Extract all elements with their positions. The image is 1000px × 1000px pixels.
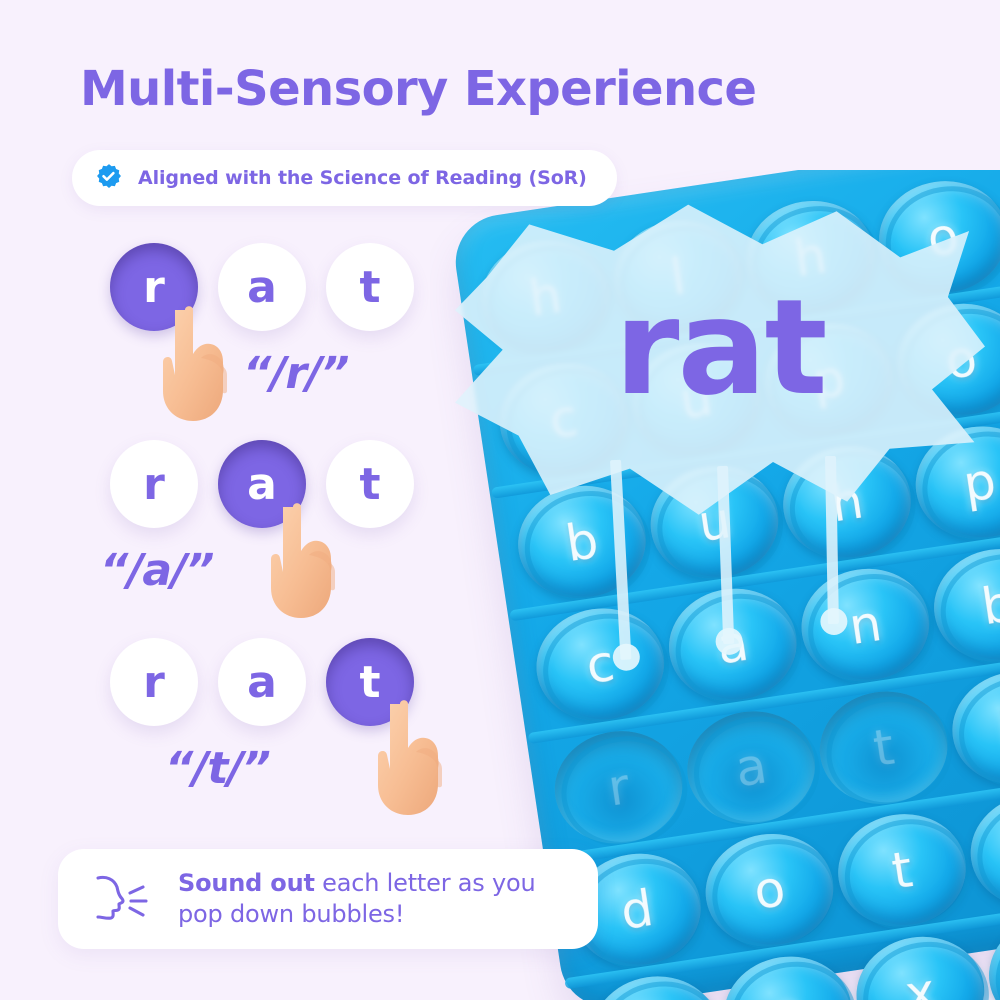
page-title: Multi-Sensory Experience xyxy=(80,62,756,117)
board-bubble-h[interactable]: h xyxy=(739,192,882,322)
board-bubble-letter: c xyxy=(582,634,618,695)
board-row: canb xyxy=(528,524,1000,735)
board-bubble-t[interactable]: t xyxy=(830,806,973,936)
letter-circle-a[interactable]: a xyxy=(218,638,306,726)
board-bubble-letter: h xyxy=(790,226,830,288)
board-bubble-o[interactable]: o xyxy=(716,948,859,1000)
board-bubble-letter: x xyxy=(901,962,939,1000)
board-bubble-letter: d xyxy=(617,879,657,941)
letter-circle-r-active[interactable]: r xyxy=(110,243,198,331)
callout-stem-1 xyxy=(610,460,631,660)
board-bubble-a-pressed[interactable]: a xyxy=(680,703,823,833)
board-bubble-b[interactable]: b xyxy=(584,968,727,1000)
board-bubble-letter: b xyxy=(996,697,1000,759)
board-bubble-l[interactable]: l xyxy=(606,212,749,342)
board-row: cupo xyxy=(491,279,1000,490)
letter-circle-t[interactable]: t xyxy=(326,440,414,528)
phoneme-label-3: “/t/” xyxy=(165,743,270,794)
board-bubble-letter: p xyxy=(960,452,1000,514)
phoneme-row-2[interactable]: rat xyxy=(110,440,414,528)
phoneme-label-1: “/r/” xyxy=(243,348,349,399)
callout-burst-shape xyxy=(455,198,985,528)
sound-out-caption-card: Sound out each letter as you pop down bu… xyxy=(58,849,598,949)
letter-circle-a-active[interactable]: a xyxy=(218,440,306,528)
board-bubble-letter: h xyxy=(827,471,867,533)
board-bubble-letter: l xyxy=(667,247,689,306)
board-row: boxl xyxy=(583,892,1000,1000)
board-bubble-o[interactable]: o xyxy=(890,295,1000,425)
board-bubble-u[interactable]: u xyxy=(625,335,768,465)
board-bubble-b[interactable]: b xyxy=(945,663,1000,793)
board-bubble-o[interactable]: o xyxy=(871,173,1000,303)
board-bubble-letter: u xyxy=(676,369,716,431)
board-bubble-letter: b xyxy=(978,574,1000,636)
board-bubble-letter: a xyxy=(732,737,771,799)
board-bubble-letter: a xyxy=(713,614,752,676)
board-bubble-h[interactable]: h xyxy=(775,438,918,568)
letter-circle-r[interactable]: r xyxy=(110,638,198,726)
board-bubble-b[interactable]: b xyxy=(926,540,1000,670)
board-bubble-h[interactable]: h xyxy=(474,232,617,362)
board-bubble-letter: h xyxy=(525,266,565,328)
sound-out-caption-text: Sound out each letter as you pop down bu… xyxy=(178,868,564,929)
letter-circle-t[interactable]: t xyxy=(326,243,414,331)
board-bubble-u[interactable]: u xyxy=(643,457,786,587)
board-bubble-letter: p xyxy=(809,349,849,411)
board-bubble-p[interactable]: p xyxy=(757,315,900,445)
letter-circle-r[interactable]: r xyxy=(110,440,198,528)
speaking-head-icon xyxy=(92,872,154,926)
sor-badge-label: Aligned with the Science of Reading (SoR… xyxy=(138,167,587,189)
letter-circle-t-active[interactable]: t xyxy=(326,638,414,726)
board-bubble-n[interactable]: n xyxy=(794,560,937,690)
board-bubble-t-pressed[interactable]: t xyxy=(812,683,955,813)
board-bubble-l[interactable]: l xyxy=(981,908,1000,1000)
board-row: ratb xyxy=(546,647,1000,858)
phoneme-row-3[interactable]: rat xyxy=(110,638,414,726)
phoneme-label-2: “/a/” xyxy=(100,545,214,596)
board-bubble-letter: r xyxy=(604,757,633,817)
board-bubble-letter: t xyxy=(888,840,916,900)
board-bubble-c[interactable]: c xyxy=(492,355,635,485)
board-bubble-letter: u xyxy=(695,491,735,553)
verified-check-icon xyxy=(94,163,124,193)
board-row: buhp xyxy=(510,402,1000,613)
board-bubble-letter: b xyxy=(562,511,602,573)
board-bubble-letter: n xyxy=(845,594,885,656)
board-bubble-letter: o xyxy=(768,982,807,1000)
callout-word-text: rat xyxy=(455,282,985,414)
board-bubble-a[interactable]: a xyxy=(661,580,804,710)
phoneme-row-1[interactable]: rat xyxy=(110,243,414,331)
board-bubble-b[interactable]: b xyxy=(510,477,653,607)
board-bubble-x[interactable]: x xyxy=(849,928,992,1000)
callout-stem-3 xyxy=(825,456,839,624)
caption-bold-text: Sound out xyxy=(178,869,315,897)
board-bubble-p[interactable]: p xyxy=(908,418,1000,548)
board-bubble-r-pressed[interactable]: r xyxy=(547,722,690,852)
board-bubble-letter: c xyxy=(546,389,582,450)
board-bubble-s[interactable]: s xyxy=(963,786,1000,916)
callout-stem-2 xyxy=(717,466,734,644)
sor-badge: Aligned with the Science of Reading (SoR… xyxy=(72,150,617,206)
board-bubble-o[interactable]: o xyxy=(698,825,841,955)
board-row: dots xyxy=(565,769,1000,980)
board-bubble-letter: o xyxy=(750,859,789,921)
board-bubble-letter: o xyxy=(942,329,981,391)
word-callout: rat xyxy=(455,198,985,528)
board-bubble-c[interactable]: c xyxy=(529,600,672,730)
board-bubble-letter: o xyxy=(923,206,962,268)
letter-circle-a[interactable]: a xyxy=(218,243,306,331)
board-bubble-letter: t xyxy=(870,718,898,778)
